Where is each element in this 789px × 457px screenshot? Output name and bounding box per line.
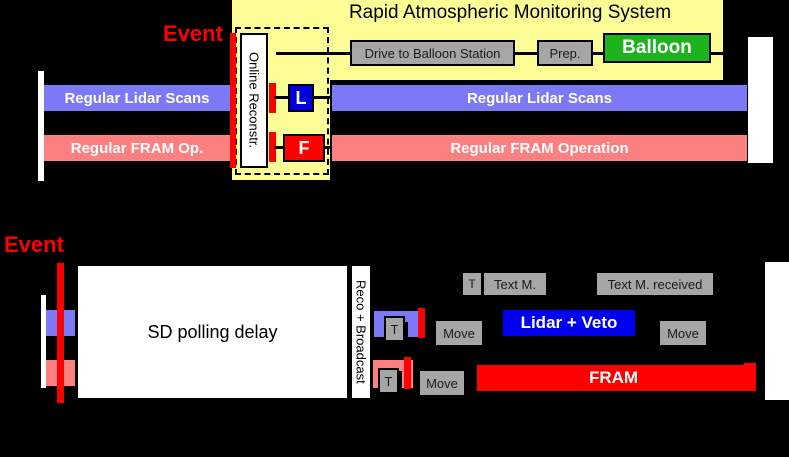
regular-lidar-scans-before: Regular Lidar Scans [44, 85, 230, 111]
regular-fram-operation-after: Regular FRAM Operation [332, 135, 747, 161]
fram-trigger-t-bottom[interactable]: T [378, 368, 399, 394]
text-message-received-box[interactable]: Text M. received [597, 273, 713, 295]
flow-step-balloon[interactable]: Balloon [603, 33, 711, 63]
regular-lidar-scans-after: Regular Lidar Scans [332, 85, 747, 111]
lidar-red-tick-bottom [418, 308, 425, 338]
fram-trigger-box[interactable]: F [283, 134, 325, 162]
flow-step-prep[interactable]: Prep. [537, 40, 593, 66]
lidar-trigger-t-bottom[interactable]: T [384, 316, 405, 342]
event-marker-bottom [57, 263, 64, 403]
online-reconstruction-box[interactable]: Online Reconstr. [240, 33, 268, 168]
regular-fram-op-before: Regular FRAM Op. [44, 135, 230, 161]
event-label-bottom: Event [4, 233, 64, 257]
sd-polling-delay-box: SD polling delay [76, 264, 349, 400]
flow-connector-1 [276, 52, 352, 55]
text-message-box[interactable]: Text M. [484, 273, 546, 295]
event-marker-top [230, 33, 236, 168]
timeline-end-top [748, 37, 773, 163]
page-title: Rapid Atmospheric Monitoring System [300, 1, 720, 25]
online-reconstruction-label: Online Reconstr. [247, 52, 262, 148]
lidar-trigger-box[interactable]: L [288, 84, 314, 112]
flow-connector-2 [513, 52, 539, 55]
reco-broadcast-box[interactable]: Reco + Broadcast [350, 264, 372, 400]
lidar-connector-right [312, 96, 334, 99]
fram-move-before-box[interactable]: Move [420, 371, 464, 395]
fram-end-tick-bottom [744, 363, 756, 391]
lidar-veto-task-box[interactable]: Lidar + Veto [503, 310, 635, 336]
flow-connector-4 [709, 52, 749, 55]
lidar-move-before-box[interactable]: Move [436, 321, 482, 345]
flow-step-drive[interactable]: Drive to Balloon Station [350, 40, 515, 66]
lidar-move-after-box[interactable]: Move [660, 321, 706, 345]
timeline-end-bottom [765, 262, 789, 400]
event-label-top: Event [163, 22, 223, 46]
diagram-canvas: Rapid Atmospheric Monitoring System Even… [0, 0, 789, 457]
fram-red-tick-bottom [404, 357, 411, 389]
reco-broadcast-label: Reco + Broadcast [354, 280, 369, 384]
text-message-trigger-box[interactable]: T [463, 273, 481, 295]
fram-task-box[interactable]: FRAM [477, 365, 750, 391]
